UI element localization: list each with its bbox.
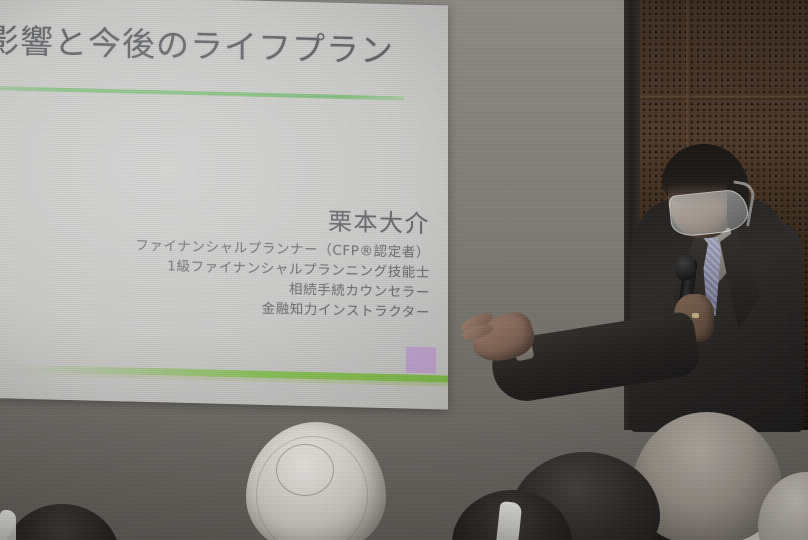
presenter-credentials: ファイナンシャルプランナー（CFP®認定者） 1級ファイナンシャルプランニング技…: [135, 235, 430, 323]
slide-title: 影響と今後のライフプラン: [0, 24, 394, 67]
hair-seam: [276, 444, 334, 496]
title-underline-rule: [0, 86, 404, 100]
audience-face-mask: [496, 501, 523, 540]
audience-head: [246, 422, 386, 540]
presenter-name: 栗本大介: [135, 204, 430, 239]
audience-face-mask: [0, 510, 16, 540]
speaker-finger-ring: [692, 313, 699, 318]
microphone-head: [676, 254, 695, 280]
audience-foreground: [0, 360, 808, 540]
presenter-block: 栗本大介 ファイナンシャルプランナー（CFP®認定者） 1級ファイナンシャルプラ…: [135, 204, 430, 324]
seminar-photo-scene: 影響と今後のライフプラン 栗本大介 ファイナンシャルプランナー（CFP®認定者）…: [0, 0, 808, 540]
projection-screen: 影響と今後のライフプラン 栗本大介 ファイナンシャルプランナー（CFP®認定者）…: [0, 0, 448, 410]
audience-head: [4, 504, 120, 540]
presentation-slide: 影響と今後のライフプラン 栗本大介 ファイナンシャルプランナー（CFP®認定者）…: [0, 0, 448, 410]
